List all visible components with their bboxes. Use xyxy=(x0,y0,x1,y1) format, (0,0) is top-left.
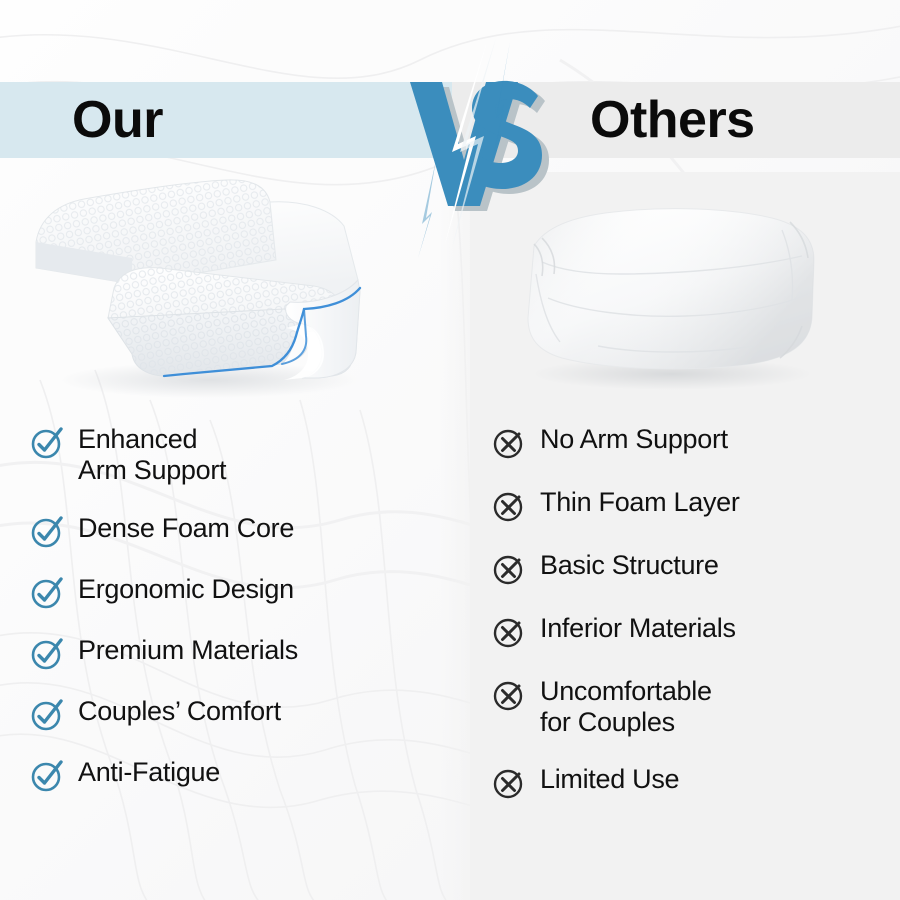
cross-circle-icon xyxy=(492,766,526,800)
check-circle-icon xyxy=(30,576,64,610)
check-circle-icon xyxy=(30,637,64,671)
list-item-label: Anti-Fatigue xyxy=(78,757,220,788)
product-image-our-pillow xyxy=(14,168,394,408)
page-title-our: Our xyxy=(72,82,163,158)
list-item-label: Dense Foam Core xyxy=(78,513,294,544)
list-item-label: Ergonomic Design xyxy=(78,574,294,605)
list-item: Ergonomic Design xyxy=(30,574,450,610)
others-feature-list: No Arm Support Thin Foam Layer Basic xyxy=(492,424,892,827)
list-item-label: Uncomfortable for Couples xyxy=(540,676,712,738)
list-item: Anti-Fatigue xyxy=(30,757,450,793)
list-item-label: Basic Structure xyxy=(540,550,719,581)
list-item: Thin Foam Layer xyxy=(492,487,892,523)
list-item-label: Enhanced Arm Support xyxy=(78,424,226,486)
list-item: No Arm Support xyxy=(492,424,892,460)
our-feature-list: Enhanced Arm Support Dense Foam Core Erg… xyxy=(30,424,450,818)
cross-circle-icon xyxy=(492,489,526,523)
list-item: Inferior Materials xyxy=(492,613,892,649)
list-item: Premium Materials xyxy=(30,635,450,671)
list-item: Basic Structure xyxy=(492,550,892,586)
cross-circle-icon xyxy=(492,552,526,586)
cross-circle-icon xyxy=(492,678,526,712)
cross-circle-icon xyxy=(492,426,526,460)
list-item-label: Limited Use xyxy=(540,764,679,795)
check-circle-icon xyxy=(30,698,64,732)
check-circle-icon xyxy=(30,426,64,460)
our-header-band xyxy=(0,82,452,158)
comparison-infographic: Our Others xyxy=(0,0,900,900)
list-item-label: No Arm Support xyxy=(540,424,728,455)
list-item-label: Inferior Materials xyxy=(540,613,736,644)
list-item-label: Thin Foam Layer xyxy=(540,487,740,518)
page-title-others: Others xyxy=(590,82,755,158)
list-item: Dense Foam Core xyxy=(30,513,450,549)
list-item: Enhanced Arm Support xyxy=(30,424,450,486)
check-circle-icon xyxy=(30,515,64,549)
product-image-others-pillow xyxy=(490,178,850,398)
list-item-label: Couples’ Comfort xyxy=(78,696,281,727)
check-circle-icon xyxy=(30,759,64,793)
list-item: Couples’ Comfort xyxy=(30,696,450,732)
cross-circle-icon xyxy=(492,615,526,649)
list-item: Uncomfortable for Couples xyxy=(492,676,892,738)
list-item-label: Premium Materials xyxy=(78,635,298,666)
list-item: Limited Use xyxy=(492,764,892,800)
